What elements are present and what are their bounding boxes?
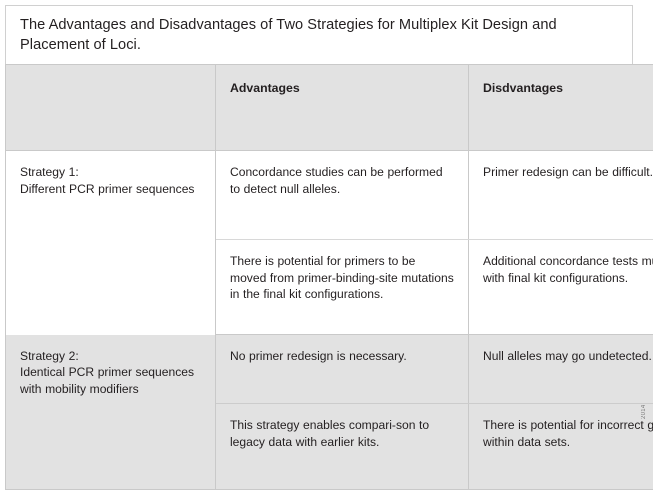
watermark-label: 2014 [640,383,652,419]
cell-strategy-2-disadvantage-1: Null alleles may go undetected. [469,335,653,404]
comparison-table: Advantages Disdvantages Strategy 1:Diffe… [5,64,653,490]
cell-strategy-1-advantage-1: Concordance studies can be performed to … [216,151,469,240]
table-row: Strategy 1:Different PCR primer sequence… [6,151,653,240]
table-header-disadvantages: Disdvantages [469,65,653,151]
cell-strategy-1-disadvantage-1: Primer redesign can be difficult. [469,151,653,240]
table-row: Strategy 2:Identical PCR primer sequence… [6,335,653,404]
cell-strategy-1-advantage-2: There is potential for primers to be mov… [216,240,469,335]
figure-title-box: The Advantages and Disadvantages of Two … [5,5,633,64]
cell-strategy-2-disadvantage-2: There is potential for incorrect genotyp… [469,404,653,490]
table-header-blank [6,65,216,151]
table-header-advantages: Advantages [216,65,469,151]
row-label-strategy-2: Strategy 2:Identical PCR primer sequence… [6,335,216,490]
cell-strategy-1-disadvantage-2: Additional concordance tests must be run… [469,240,653,335]
row-label-strategy-1: Strategy 1:Different PCR primer sequence… [6,151,216,335]
page-title: The Advantages and Disadvantages of Two … [20,15,618,55]
cell-strategy-2-advantage-2: This strategy enables compari-son to leg… [216,404,469,490]
table-header-row: Advantages Disdvantages [6,65,653,151]
figure-container: The Advantages and Disadvantages of Two … [5,5,633,414]
cell-strategy-2-advantage-1: No primer redesign is necessary. [216,335,469,404]
